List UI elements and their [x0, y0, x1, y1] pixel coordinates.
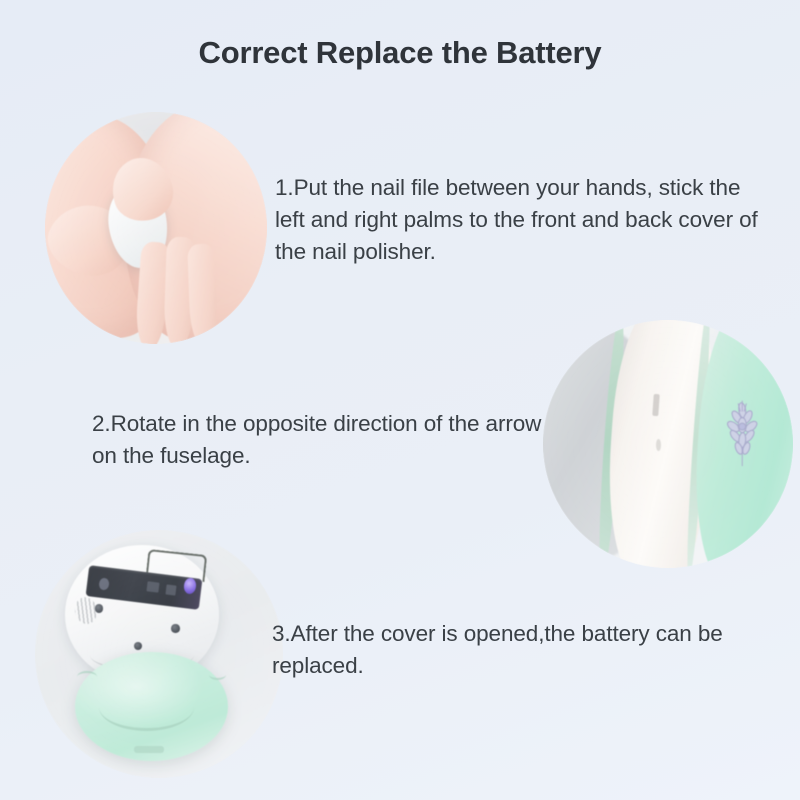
battery-label: [166, 584, 177, 595]
page-title: Correct Replace the Battery: [0, 34, 800, 71]
cover-tab: [209, 669, 226, 680]
finger-shape: [188, 244, 218, 344]
photo-device-opened: [35, 530, 283, 778]
cover-groove: [99, 684, 193, 732]
step-3-text: 3.After the cover is opened,the battery …: [272, 618, 752, 682]
photo-open-background: [35, 530, 283, 778]
cover-tab: [134, 746, 164, 753]
photo-hands-holding-device: [45, 112, 267, 344]
device-dot-mark: [656, 439, 661, 451]
step-1-text: 1.Put the nail file between your hands, …: [275, 172, 760, 269]
photo-hands-background: [45, 112, 267, 344]
screw-hole: [171, 624, 179, 632]
photo-nail-polisher-closed: [543, 320, 793, 568]
infographic-page: Correct Replace the Battery 1.Put the na…: [0, 0, 800, 800]
photo-device-background: [543, 320, 793, 568]
step-2-text: 2.Rotate in the opposite direction of th…: [92, 408, 542, 472]
flower-decal-icon: [721, 387, 764, 469]
battery-label: [146, 581, 160, 592]
